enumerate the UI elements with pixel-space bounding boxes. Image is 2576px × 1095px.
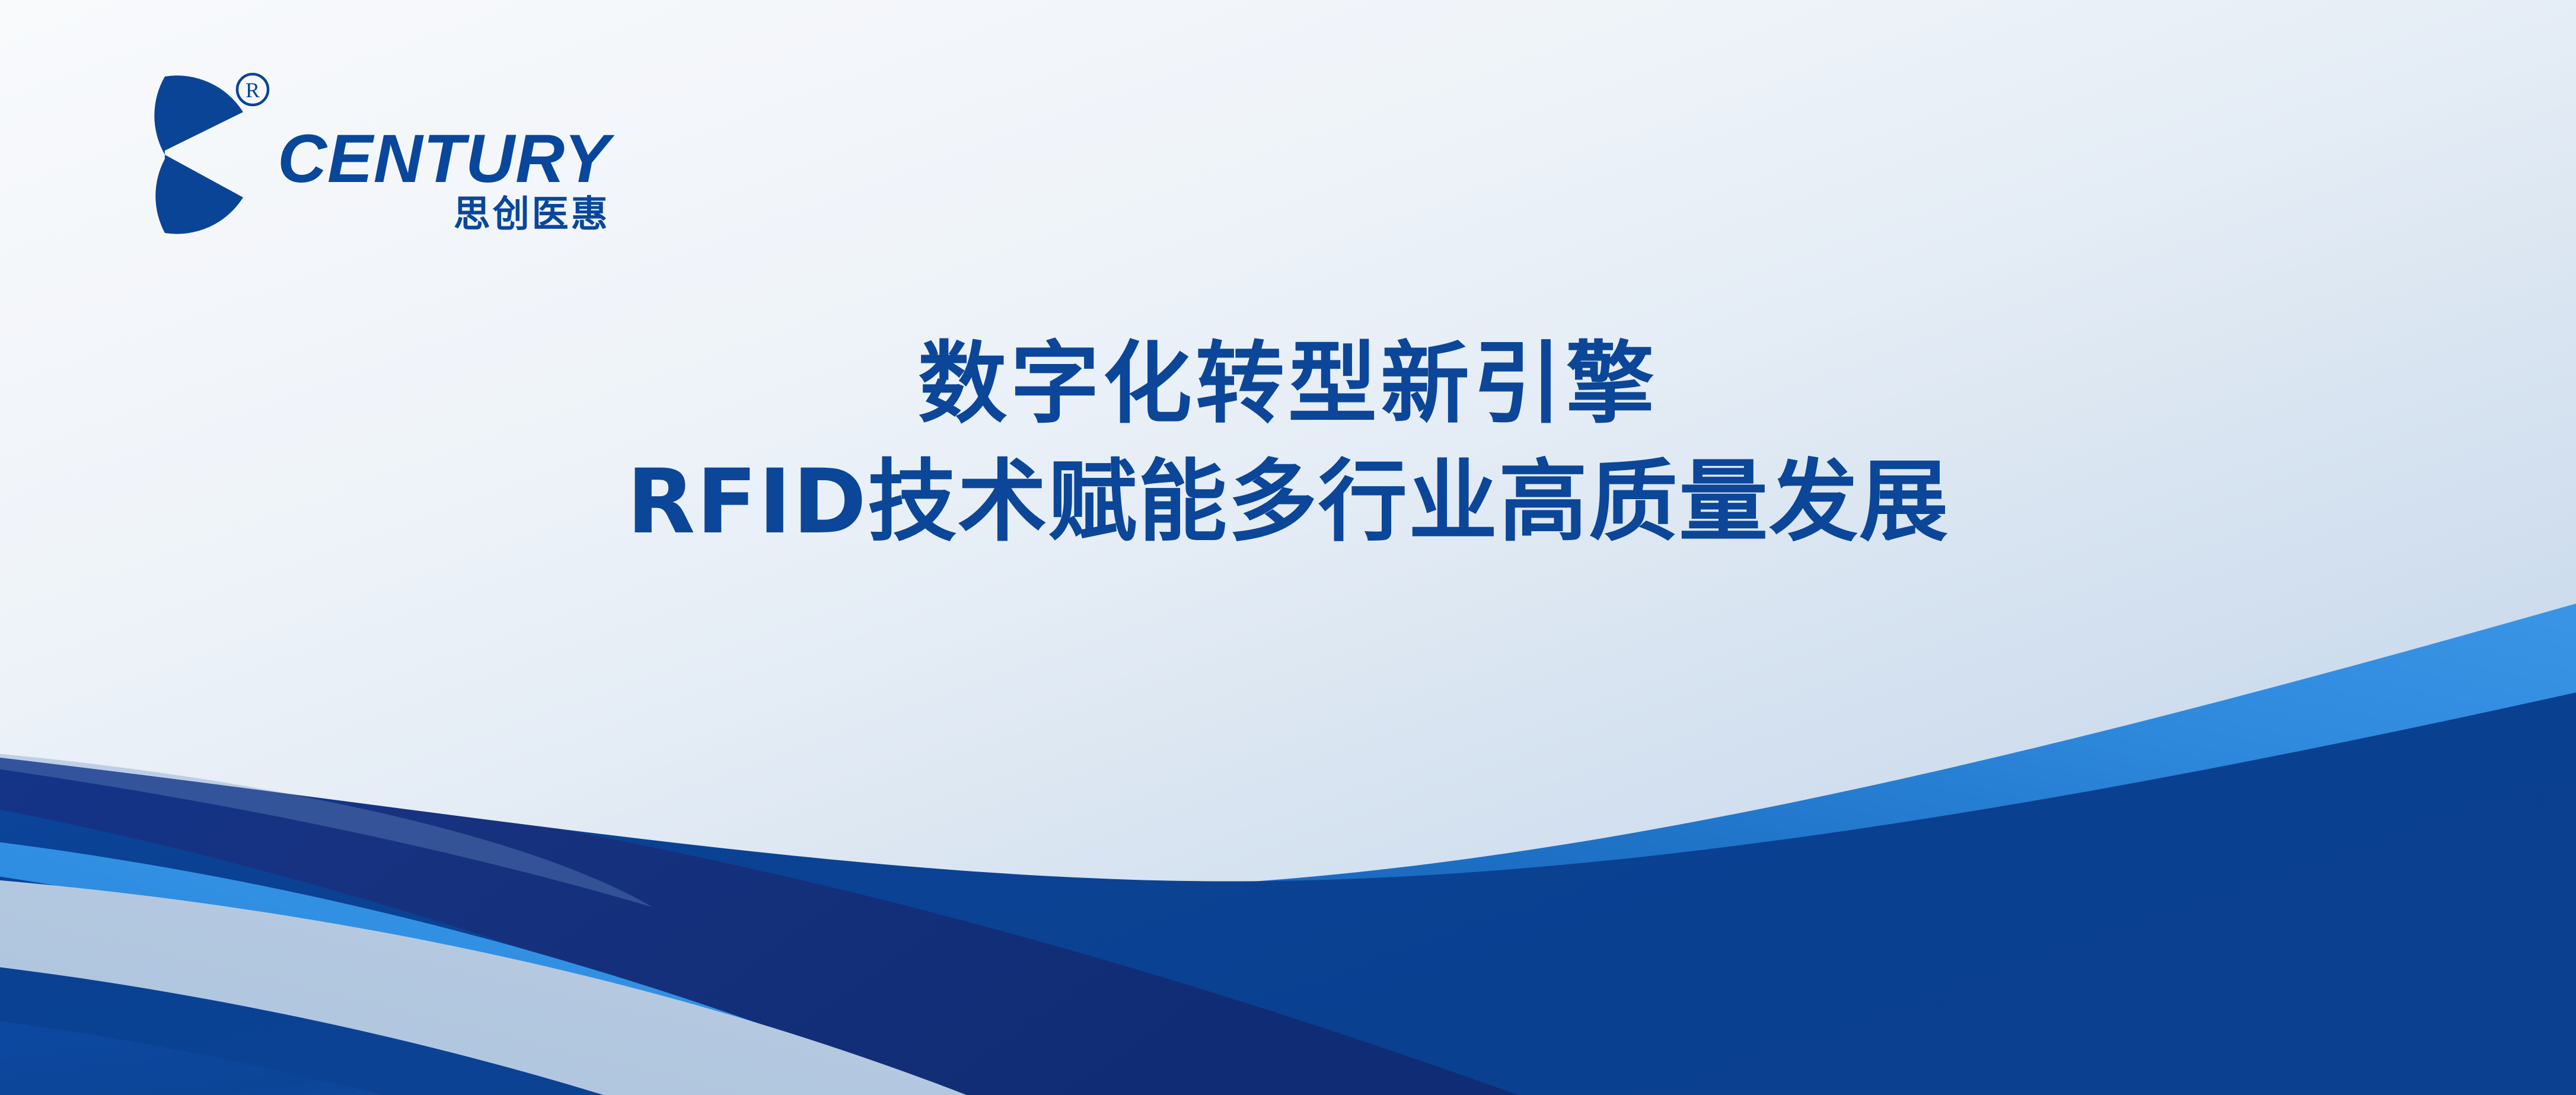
headline-line-1: 数字化转型新引擎 (0, 332, 2576, 437)
company-logo[interactable]: R CENTURY 思创医惠 (89, 71, 610, 238)
headline-block: 数字化转型新引擎 RFID技术赋能多行业高质量发展 (0, 332, 2576, 555)
mark-upper-sector (154, 75, 243, 155)
svg-text:R: R (246, 78, 260, 102)
logo-wordmark: CENTURY 思创医惠 (278, 71, 610, 232)
logo-latin-name: CENTURY (278, 128, 610, 191)
century-c-mark-icon: R (89, 71, 261, 238)
logo-chinese-name: 思创医惠 (278, 196, 610, 232)
mark-lower-sector (155, 155, 243, 234)
registered-trademark-icon: R (234, 71, 271, 108)
headline-line-2: RFID技术赋能多行业高质量发展 (0, 450, 2576, 555)
banner-canvas: R CENTURY 思创医惠 数字化转型新引擎 RFID技术赋能多行业高质量发展 (0, 0, 2576, 1095)
